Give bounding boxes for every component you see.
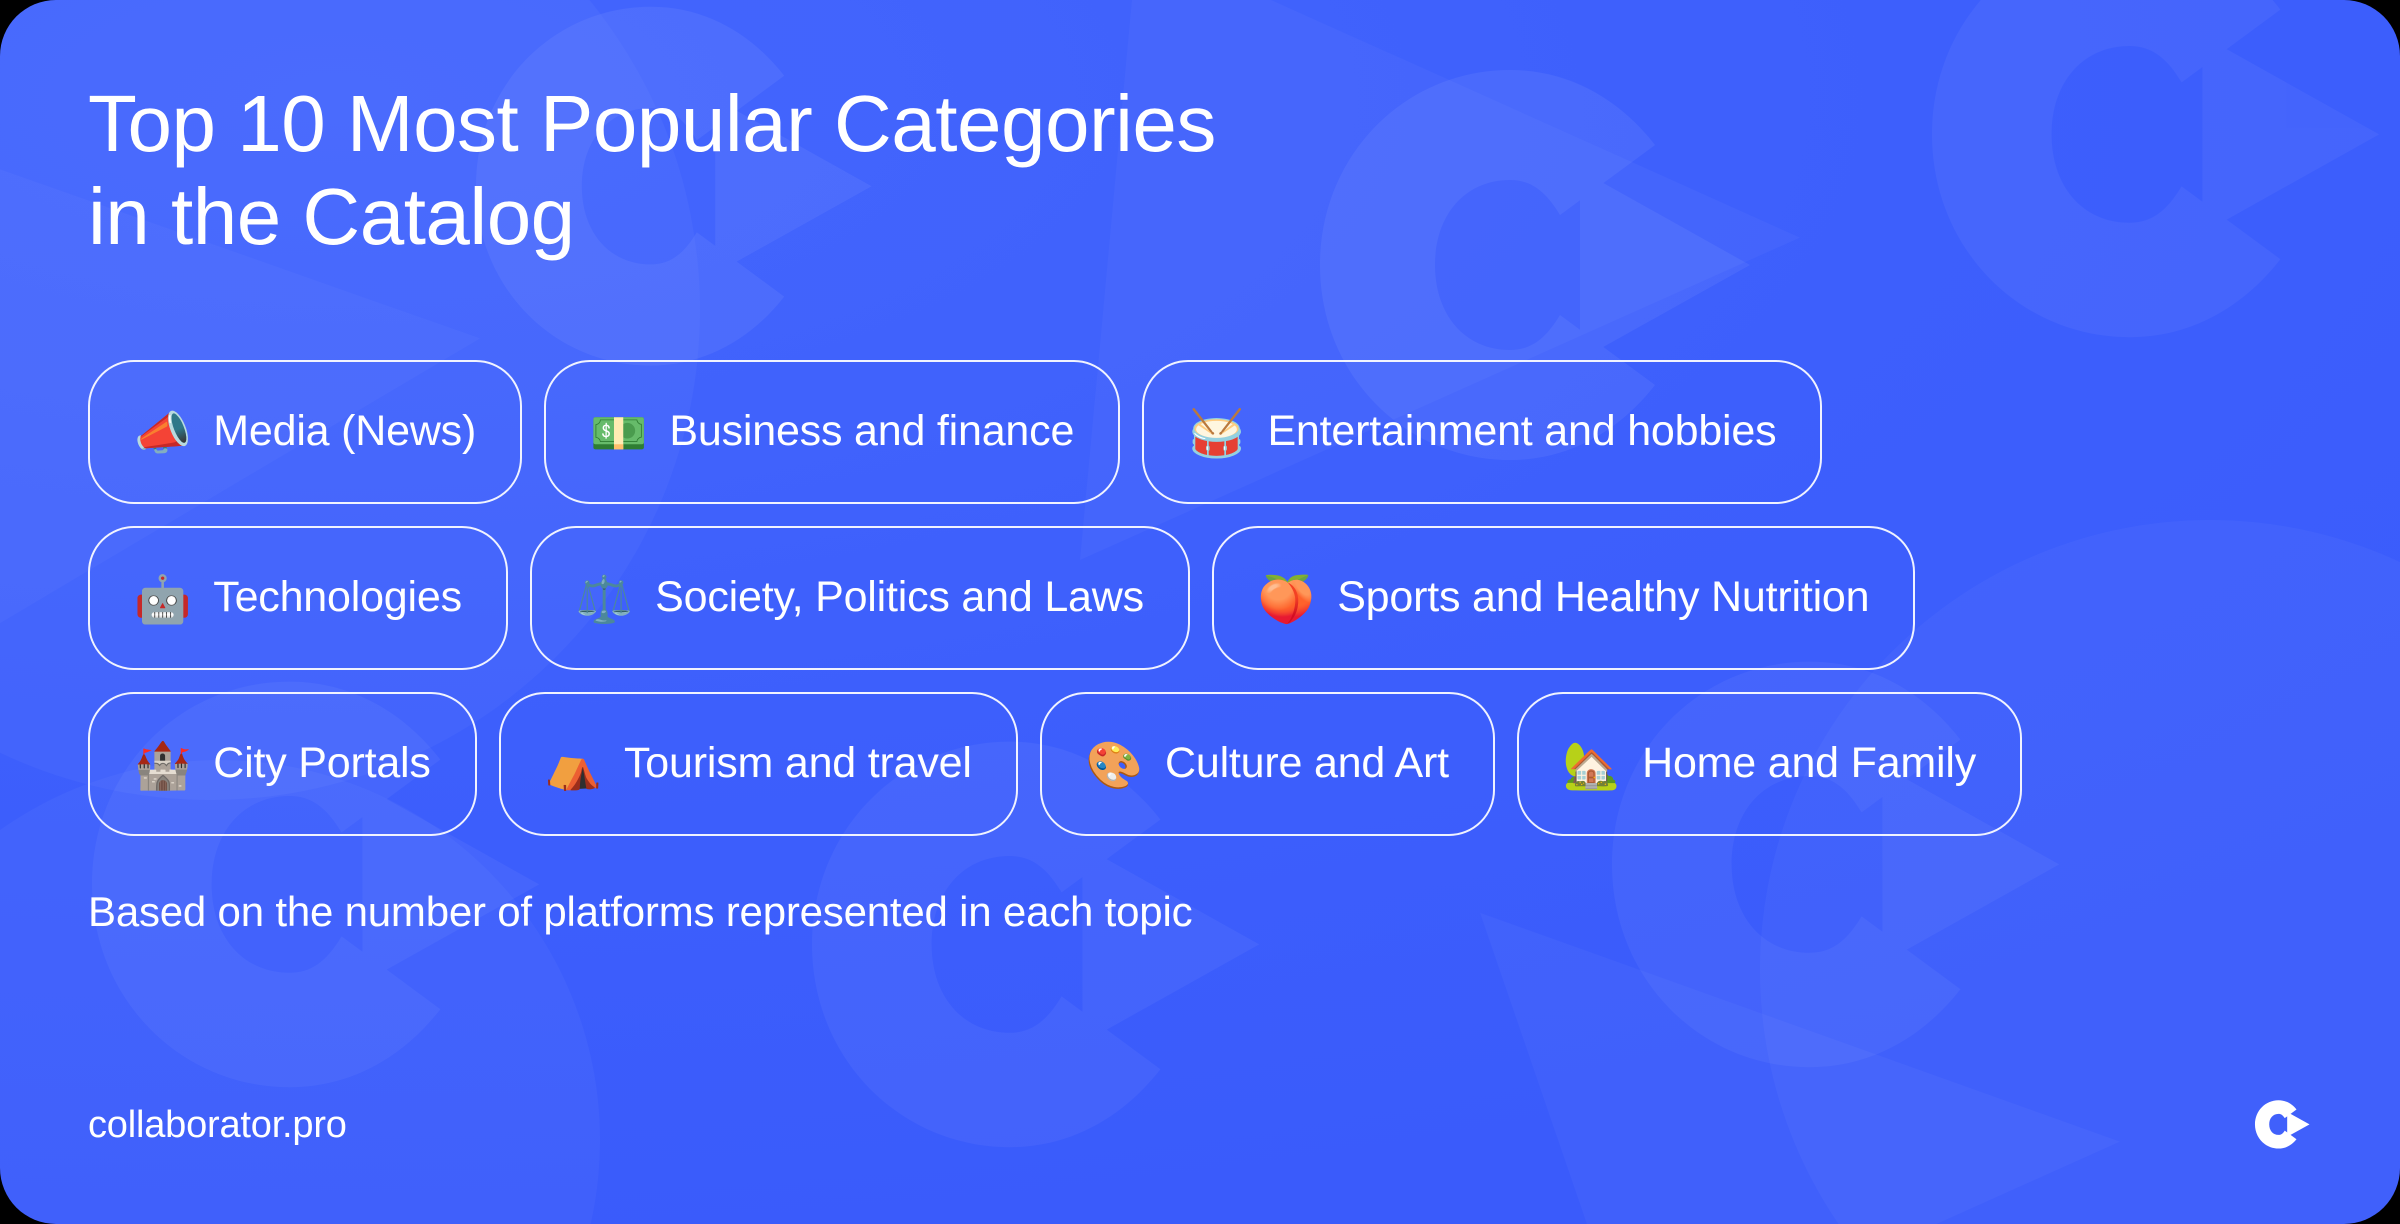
category-label: Technologies	[213, 576, 462, 619]
category-label: Media (News)	[213, 410, 476, 453]
category-row-2: 🤖 Technologies ⚖️ Society, Politics and …	[88, 526, 2312, 670]
category-pill-business-and-finance[interactable]: 💵 Business and finance	[544, 360, 1120, 504]
tent-icon: ⛺	[545, 742, 602, 788]
balance-scale-icon: ⚖️	[576, 576, 633, 622]
source-caption: Based on the number of platforms represe…	[88, 888, 2312, 936]
category-grid: 📣 Media (News) 💵 Business and finance 🥁 …	[88, 360, 2312, 836]
drum-icon: 🥁	[1188, 410, 1245, 456]
category-pill-sports-and-healthy-nutrition[interactable]: 🍑 Sports and Healthy Nutrition	[1212, 526, 1915, 670]
infographic-card: Top 10 Most Popular Categories in the Ca…	[0, 0, 2400, 1224]
category-label: Tourism and travel	[624, 742, 972, 785]
category-row-1: 📣 Media (News) 💵 Business and finance 🥁 …	[88, 360, 2312, 504]
site-url: collaborator.pro	[88, 1104, 347, 1147]
robot-icon: 🤖	[134, 576, 191, 622]
collaborator-logo	[2250, 1094, 2312, 1156]
peach-icon: 🍑	[1258, 576, 1315, 622]
category-pill-technologies[interactable]: 🤖 Technologies	[88, 526, 508, 670]
category-row-3: 🏰 City Portals ⛺ Tourism and travel 🎨 Cu…	[88, 692, 2312, 836]
category-pill-entertainment-and-hobbies[interactable]: 🥁 Entertainment and hobbies	[1142, 360, 1822, 504]
category-pill-media-news[interactable]: 📣 Media (News)	[88, 360, 522, 504]
category-pill-home-and-family[interactable]: 🏡 Home and Family	[1517, 692, 2022, 836]
category-pill-culture-and-art[interactable]: 🎨 Culture and Art	[1040, 692, 1495, 836]
house-with-garden-icon: 🏡	[1563, 742, 1620, 788]
category-label: Home and Family	[1642, 742, 1976, 785]
artist-palette-icon: 🎨	[1086, 742, 1143, 788]
category-pill-society-politics-and-laws[interactable]: ⚖️ Society, Politics and Laws	[530, 526, 1190, 670]
category-label: City Portals	[213, 742, 430, 785]
category-label: Society, Politics and Laws	[655, 576, 1144, 619]
megaphone-icon: 📣	[134, 410, 191, 456]
category-pill-tourism-and-travel[interactable]: ⛺ Tourism and travel	[499, 692, 1018, 836]
castle-icon: 🏰	[134, 742, 191, 788]
category-label: Business and finance	[669, 410, 1074, 453]
category-label: Entertainment and hobbies	[1267, 410, 1776, 453]
card-footer: collaborator.pro	[88, 1094, 2312, 1156]
page-title: Top 10 Most Popular Categories in the Ca…	[88, 78, 2312, 264]
category-label: Sports and Healthy Nutrition	[1337, 576, 1869, 619]
dollar-banknote-icon: 💵	[590, 410, 647, 456]
category-label: Culture and Art	[1165, 742, 1449, 785]
card-content: Top 10 Most Popular Categories in the Ca…	[0, 0, 2400, 1224]
category-pill-city-portals[interactable]: 🏰 City Portals	[88, 692, 477, 836]
